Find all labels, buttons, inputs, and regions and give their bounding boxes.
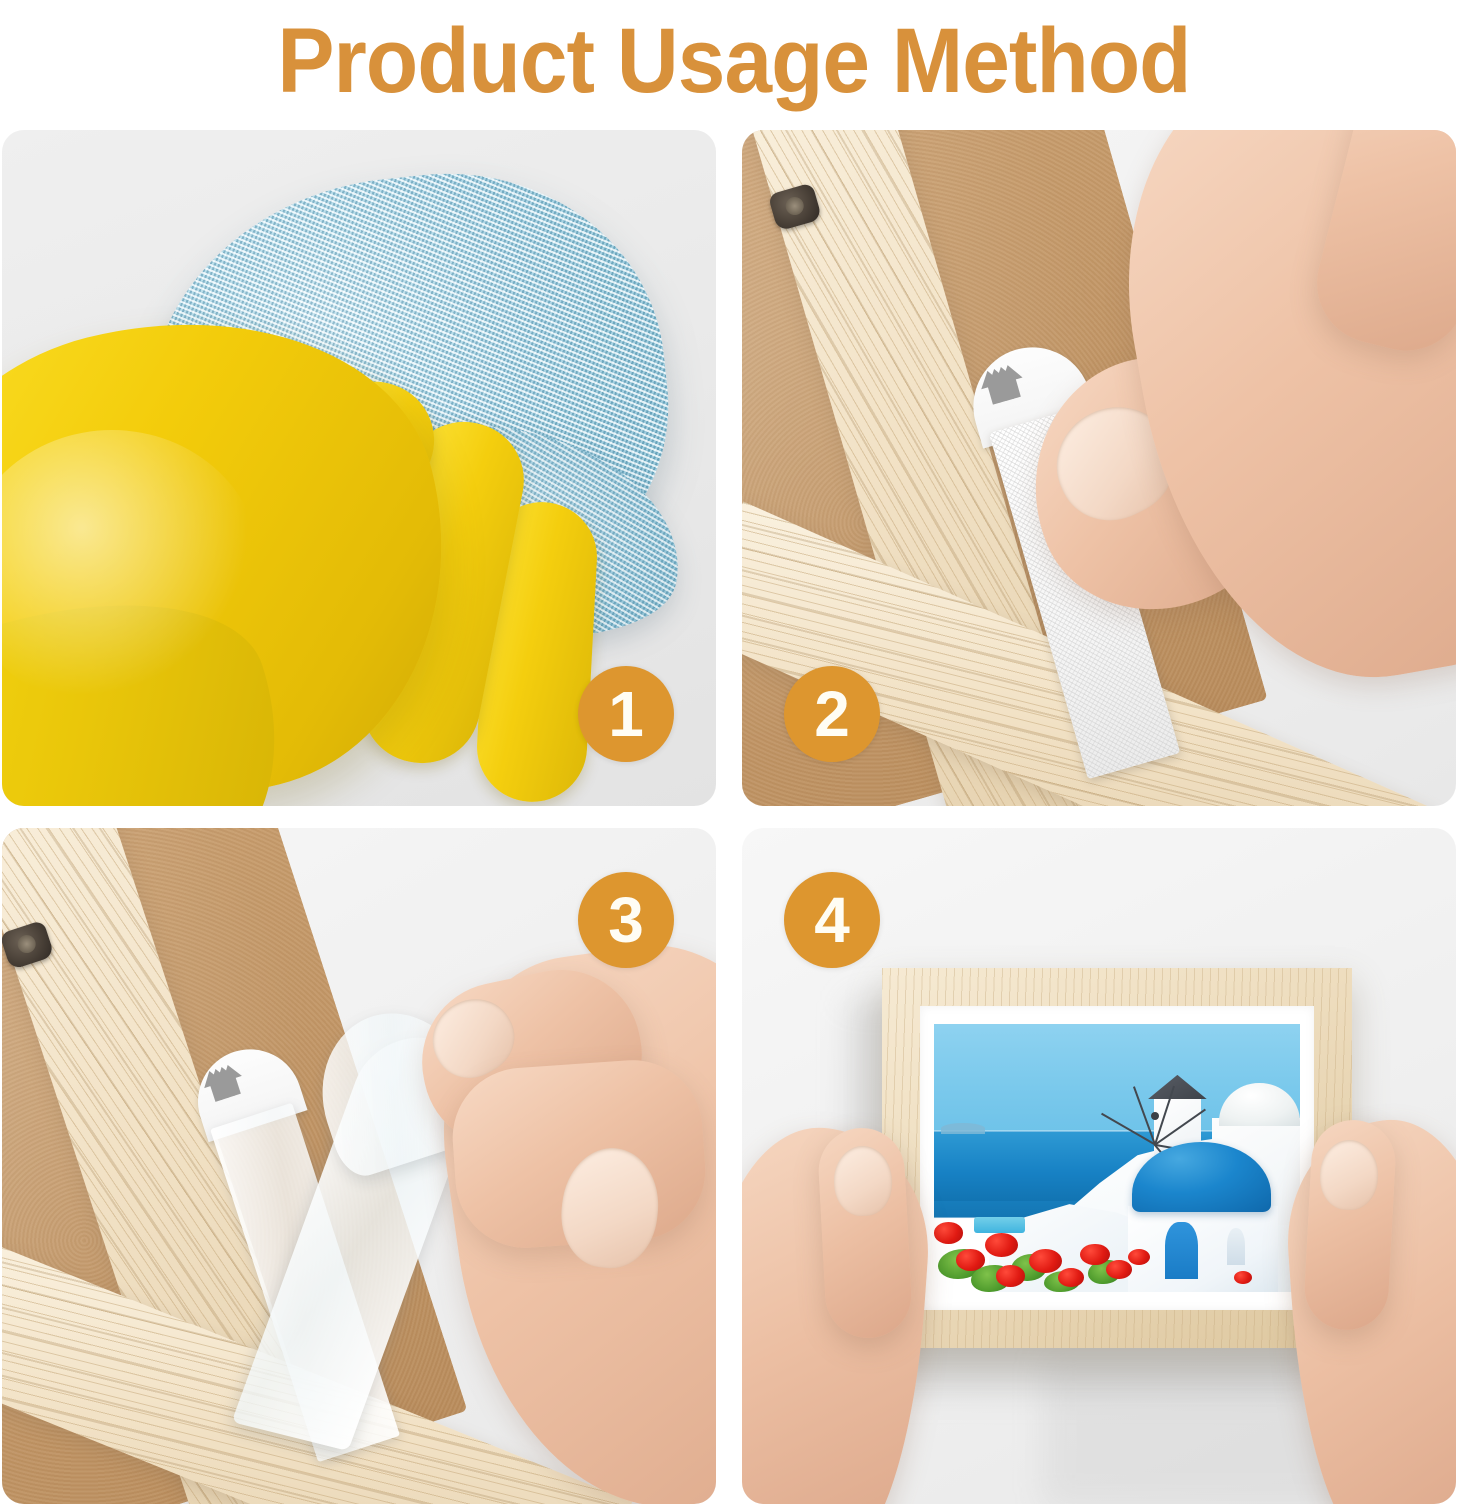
photo-flower <box>1058 1268 1084 1287</box>
photo-flower <box>956 1249 985 1270</box>
frame-mat <box>920 1006 1314 1310</box>
photo-swimming-pool <box>974 1217 1025 1233</box>
santorini-photo <box>934 1024 1300 1292</box>
page-header: Product Usage Method <box>0 0 1468 122</box>
step-panel-4: 4 <box>742 828 1456 1504</box>
photo-flower <box>1080 1244 1109 1265</box>
step-panel-3: 3 <box>2 828 716 1504</box>
photo-church-body <box>1128 1206 1278 1292</box>
photo-flower <box>934 1222 963 1243</box>
photo-flower <box>996 1265 1025 1286</box>
page-title: Product Usage Method <box>277 15 1190 107</box>
step-badge-2: 2 <box>784 666 880 762</box>
steps-grid: 1 2 <box>2 130 1466 1498</box>
photo-flower <box>1128 1249 1150 1265</box>
right-thumbnail <box>1319 1139 1379 1211</box>
step-badge-1: 1 <box>578 666 674 762</box>
photo-blue-door <box>1165 1222 1198 1278</box>
step-panel-2: 2 <box>742 130 1456 806</box>
photo-frame <box>882 968 1352 1348</box>
step-badge-4: 4 <box>784 872 880 968</box>
step-badge-3: 3 <box>578 872 674 968</box>
photo-window <box>1227 1228 1245 1266</box>
photo-flower <box>1106 1260 1132 1279</box>
photo-island <box>941 1123 985 1134</box>
step-panel-1: 1 <box>2 130 716 806</box>
